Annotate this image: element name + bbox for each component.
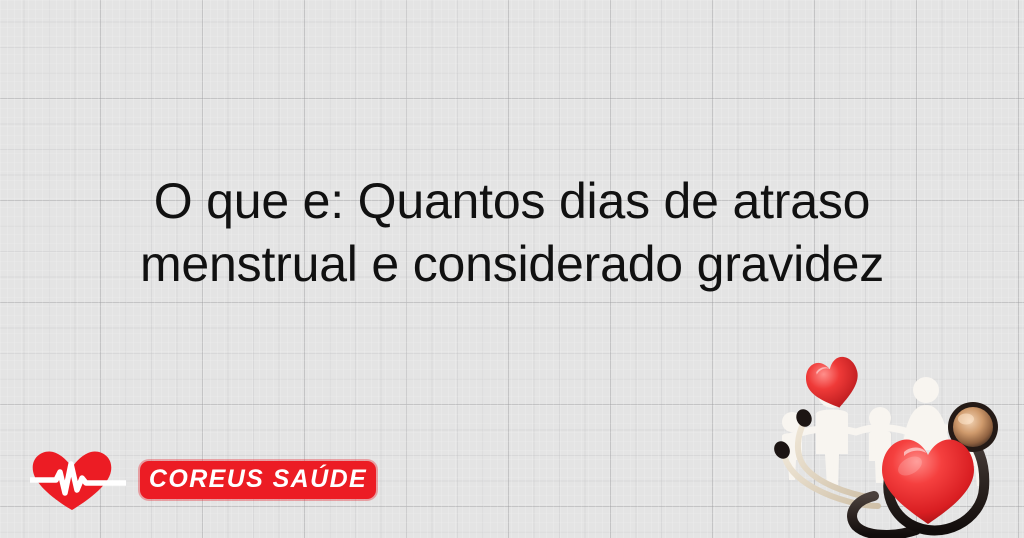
title-line-1: O que e: Quantos dias de atraso [0, 170, 1024, 233]
health-family-stethoscope-illustration [770, 348, 1024, 538]
small-heart [802, 354, 864, 414]
title-line-2: menstrual e considerado gravidez [0, 233, 1024, 296]
brand-badge: COREUS SAÚDE [140, 461, 376, 499]
brand-logo[interactable]: COREUS SAÚDE [30, 448, 352, 516]
page-title: O que e: Quantos dias de atraso menstrua… [0, 170, 1024, 296]
heart-with-ecg-icon [30, 450, 126, 512]
brand-name-label: COREUS SAÚDE [140, 461, 376, 499]
poster-canvas: O que e: Quantos dias de atraso menstrua… [0, 0, 1024, 538]
